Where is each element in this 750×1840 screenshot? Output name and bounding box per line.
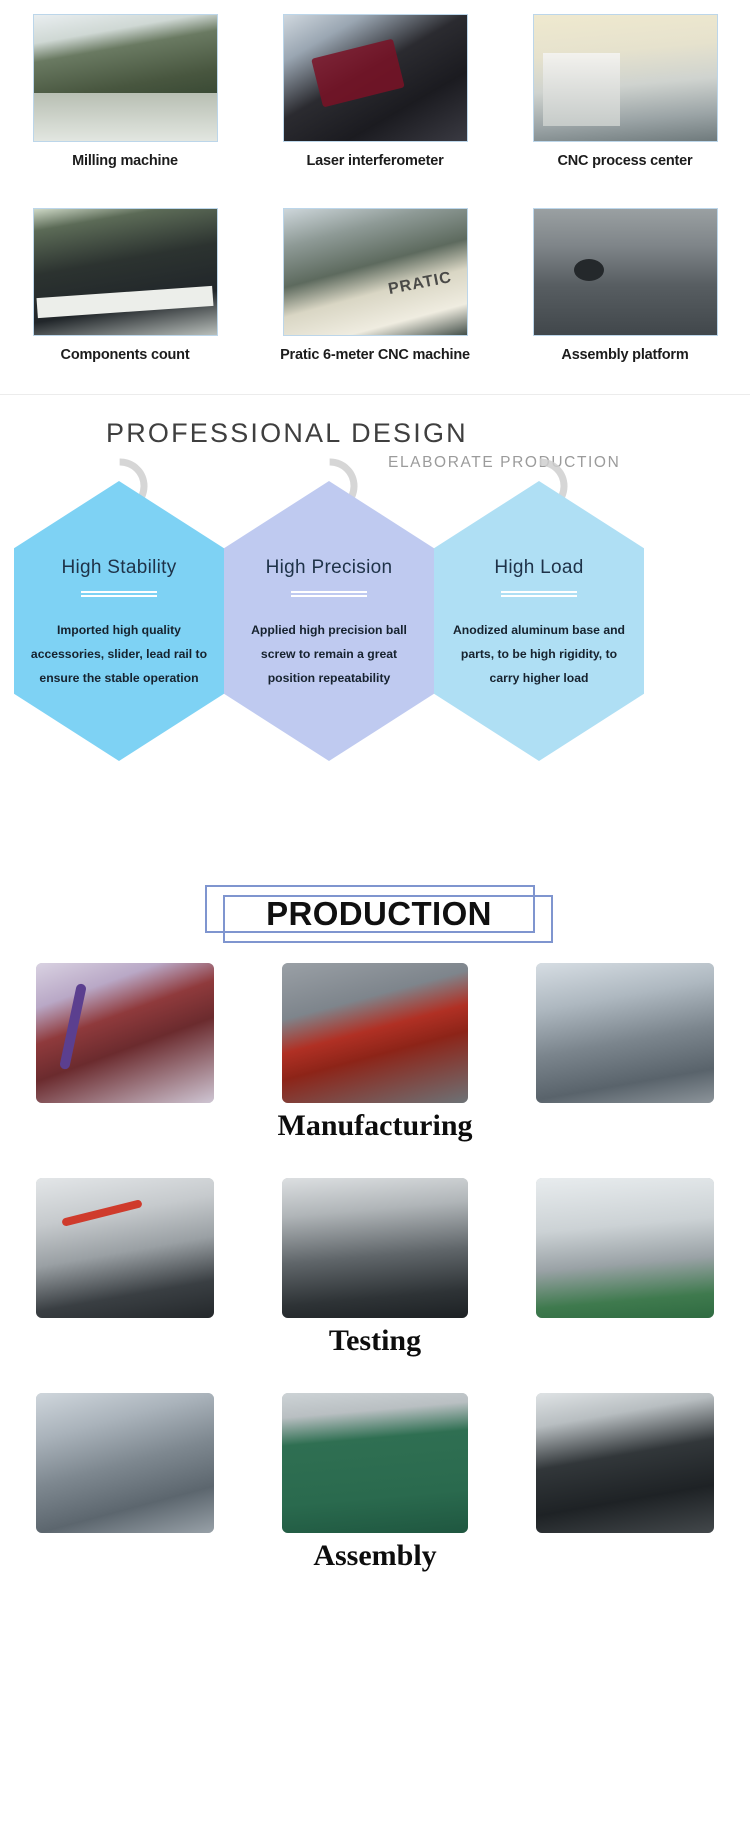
production-group-testing: Testing <box>0 1178 750 1393</box>
production-cell <box>250 963 500 1103</box>
production-group-label: Manufacturing <box>0 1109 750 1143</box>
equipment-cell-components-count: Components count <box>0 208 250 384</box>
production-cell <box>500 1178 750 1318</box>
production-cell <box>0 1178 250 1318</box>
professional-design-section: PROFESSIONAL DESIGN ELABORATE PRODUCTION… <box>0 395 750 875</box>
design-title: PROFESSIONAL DESIGN <box>106 418 468 449</box>
equipment-caption: CNC process center <box>557 152 692 190</box>
feature-card-high-precision: High Precision Applied high precision ba… <box>224 481 434 761</box>
design-subtitle: ELABORATE PRODUCTION <box>388 454 620 472</box>
equipment-cell-laser-interferometer: Laser interferometer <box>250 14 500 190</box>
equipment-caption: Milling machine <box>72 152 178 190</box>
feature-card-high-stability: High Stability Imported high quality acc… <box>14 481 224 761</box>
photo-fill <box>36 1393 214 1533</box>
production-group-label: Assembly <box>0 1539 750 1573</box>
production-title: PRODUCTION <box>205 883 553 945</box>
equipment-caption: Laser interferometer <box>306 152 443 190</box>
feature-hexagons: High Stability Imported high quality acc… <box>0 481 750 871</box>
production-cell <box>0 1393 250 1533</box>
equipment-caption: Assembly platform <box>561 346 688 384</box>
feature-divider <box>501 591 577 597</box>
photo-fill <box>536 963 714 1103</box>
feature-divider <box>81 591 157 597</box>
components-count-photo <box>33 208 218 336</box>
production-image-row <box>0 963 750 1103</box>
photo-fill <box>284 15 467 141</box>
equipment-cell-milling-machine: Milling machine <box>0 14 250 190</box>
production-cell <box>500 1393 750 1533</box>
laser-interferometer-photo <box>283 14 468 142</box>
aluminum-profile-stock-photo <box>36 1393 214 1533</box>
feature-card-high-load: High Load Anodized aluminum base and par… <box>434 481 644 761</box>
equipment-section: Milling machine Laser interferometer CNC… <box>0 0 750 395</box>
cnc-process-center-photo <box>533 14 718 142</box>
assembly-platform-photo <box>533 208 718 336</box>
equipment-row-1: Milling machine Laser interferometer CNC… <box>0 14 750 190</box>
photo-fill <box>534 15 717 141</box>
photo-fill <box>36 963 214 1103</box>
photo-fill <box>534 209 717 335</box>
photo-fill <box>282 963 468 1103</box>
photo-fill <box>34 15 217 141</box>
equipment-cell-cnc-process-center: CNC process center <box>500 14 750 190</box>
production-title-block: PRODUCTION <box>205 883 545 947</box>
production-group-label: Testing <box>0 1324 750 1358</box>
equipment-caption: Components count <box>61 346 190 384</box>
feature-heading: High Load <box>434 557 644 579</box>
pratic-cnc-machine-photo <box>283 208 468 336</box>
machining-workshop-photo <box>536 963 714 1103</box>
feature-heading: High Precision <box>224 557 434 579</box>
feature-heading: High Stability <box>14 557 224 579</box>
equipment-cell-assembly-platform: Assembly platform <box>500 208 750 384</box>
production-group-manufacturing: Manufacturing <box>0 963 750 1178</box>
photo-fill <box>36 1178 214 1318</box>
photo-fill <box>282 1393 468 1533</box>
production-cell <box>0 963 250 1103</box>
production-cell <box>250 1178 500 1318</box>
production-group-assembly: Assembly <box>0 1393 750 1608</box>
photo-fill <box>536 1393 714 1533</box>
milling-machine-photo <box>33 14 218 142</box>
equipment-cell-pratic-cnc-machine: Pratic 6-meter CNC machine <box>250 208 500 384</box>
linear-rail-test-bench-photo <box>282 1178 468 1318</box>
stepper-motors-rails-photo <box>536 1393 714 1533</box>
red-cnc-gantry-machine-photo <box>282 963 468 1103</box>
production-image-row <box>0 1393 750 1533</box>
feature-body: Imported high quality accessories, slide… <box>30 619 208 690</box>
feature-body: Applied high precision ball screw to rem… <box>240 619 418 690</box>
equipment-row-2: Components count Pratic 6-meter CNC mach… <box>0 208 750 384</box>
production-cell <box>250 1393 500 1533</box>
photo-fill <box>284 209 467 335</box>
product-detail-page: Milling machine Laser interferometer CNC… <box>0 0 750 1840</box>
dial-indicator-test-photo <box>36 1178 214 1318</box>
cnc-milling-coolant-photo <box>36 963 214 1103</box>
photo-fill <box>282 1178 468 1318</box>
photo-fill <box>536 1178 714 1318</box>
cmm-measuring-room-photo <box>536 1178 714 1318</box>
production-image-row <box>0 1178 750 1318</box>
production-cell <box>500 963 750 1103</box>
hand-assembly-linear-module-photo <box>282 1393 468 1533</box>
feature-divider <box>291 591 367 597</box>
photo-fill <box>34 209 217 335</box>
equipment-caption: Pratic 6-meter CNC machine <box>280 346 470 384</box>
production-section: PRODUCTION <box>0 875 750 1608</box>
feature-body: Anodized aluminum base and parts, to be … <box>450 619 628 690</box>
